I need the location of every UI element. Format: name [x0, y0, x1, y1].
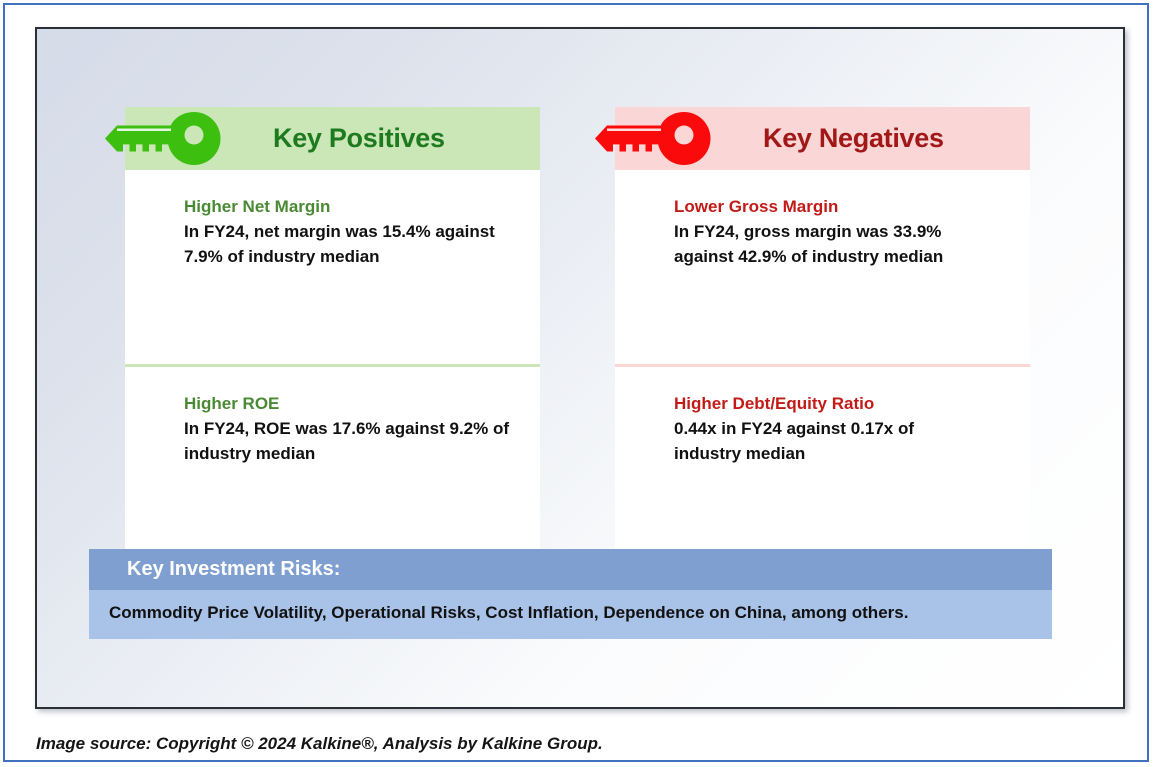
panel-title-negatives: Key Negatives	[763, 123, 944, 154]
panel-body-negatives: Lower Gross Margin In FY24, gross margin…	[615, 170, 1030, 574]
image-source-caption: Image source: Copyright © 2024 Kalkine®,…	[36, 734, 603, 754]
risks-body-text: Commodity Price Volatility, Operational …	[89, 590, 1052, 639]
panel-key-negatives: Key Negatives Lower Gross Margin In FY24…	[615, 107, 1030, 574]
positive-card-1-text: In FY24, net margin was 15.4% against 7.…	[184, 220, 510, 269]
positive-card-2-title: Higher ROE	[184, 393, 510, 414]
panel-header-negatives: Key Negatives	[615, 107, 1030, 170]
key-icon	[95, 111, 223, 167]
negative-card-2-text: 0.44x in FY24 against 0.17x of industry …	[674, 417, 1000, 466]
positive-card-2-text: In FY24, ROE was 17.6% against 9.2% of i…	[184, 417, 510, 466]
negative-card-2: Higher Debt/Equity Ratio 0.44x in FY24 a…	[615, 367, 1030, 577]
key-investment-risks-banner: Key Investment Risks: Commodity Price Vo…	[89, 549, 1052, 639]
infographic-canvas: Key Positives Higher Net Margin In FY24,…	[35, 27, 1125, 709]
page-border: Key Positives Higher Net Margin In FY24,…	[3, 3, 1149, 762]
panel-key-positives: Key Positives Higher Net Margin In FY24,…	[125, 107, 540, 574]
key-icon	[585, 111, 713, 167]
positive-card-2: Higher ROE In FY24, ROE was 17.6% agains…	[125, 367, 540, 577]
panel-title-positives: Key Positives	[273, 123, 445, 154]
panel-header-positives: Key Positives	[125, 107, 540, 170]
panel-body-positives: Higher Net Margin In FY24, net margin wa…	[125, 170, 540, 574]
positive-card-1: Higher Net Margin In FY24, net margin wa…	[125, 170, 540, 364]
negative-card-1: Lower Gross Margin In FY24, gross margin…	[615, 170, 1030, 364]
risks-heading: Key Investment Risks:	[89, 549, 1052, 590]
negative-card-2-title: Higher Debt/Equity Ratio	[674, 393, 1000, 414]
positive-card-1-title: Higher Net Margin	[184, 196, 510, 217]
negative-card-1-title: Lower Gross Margin	[674, 196, 1000, 217]
negative-card-1-text: In FY24, gross margin was 33.9% against …	[674, 220, 1000, 269]
